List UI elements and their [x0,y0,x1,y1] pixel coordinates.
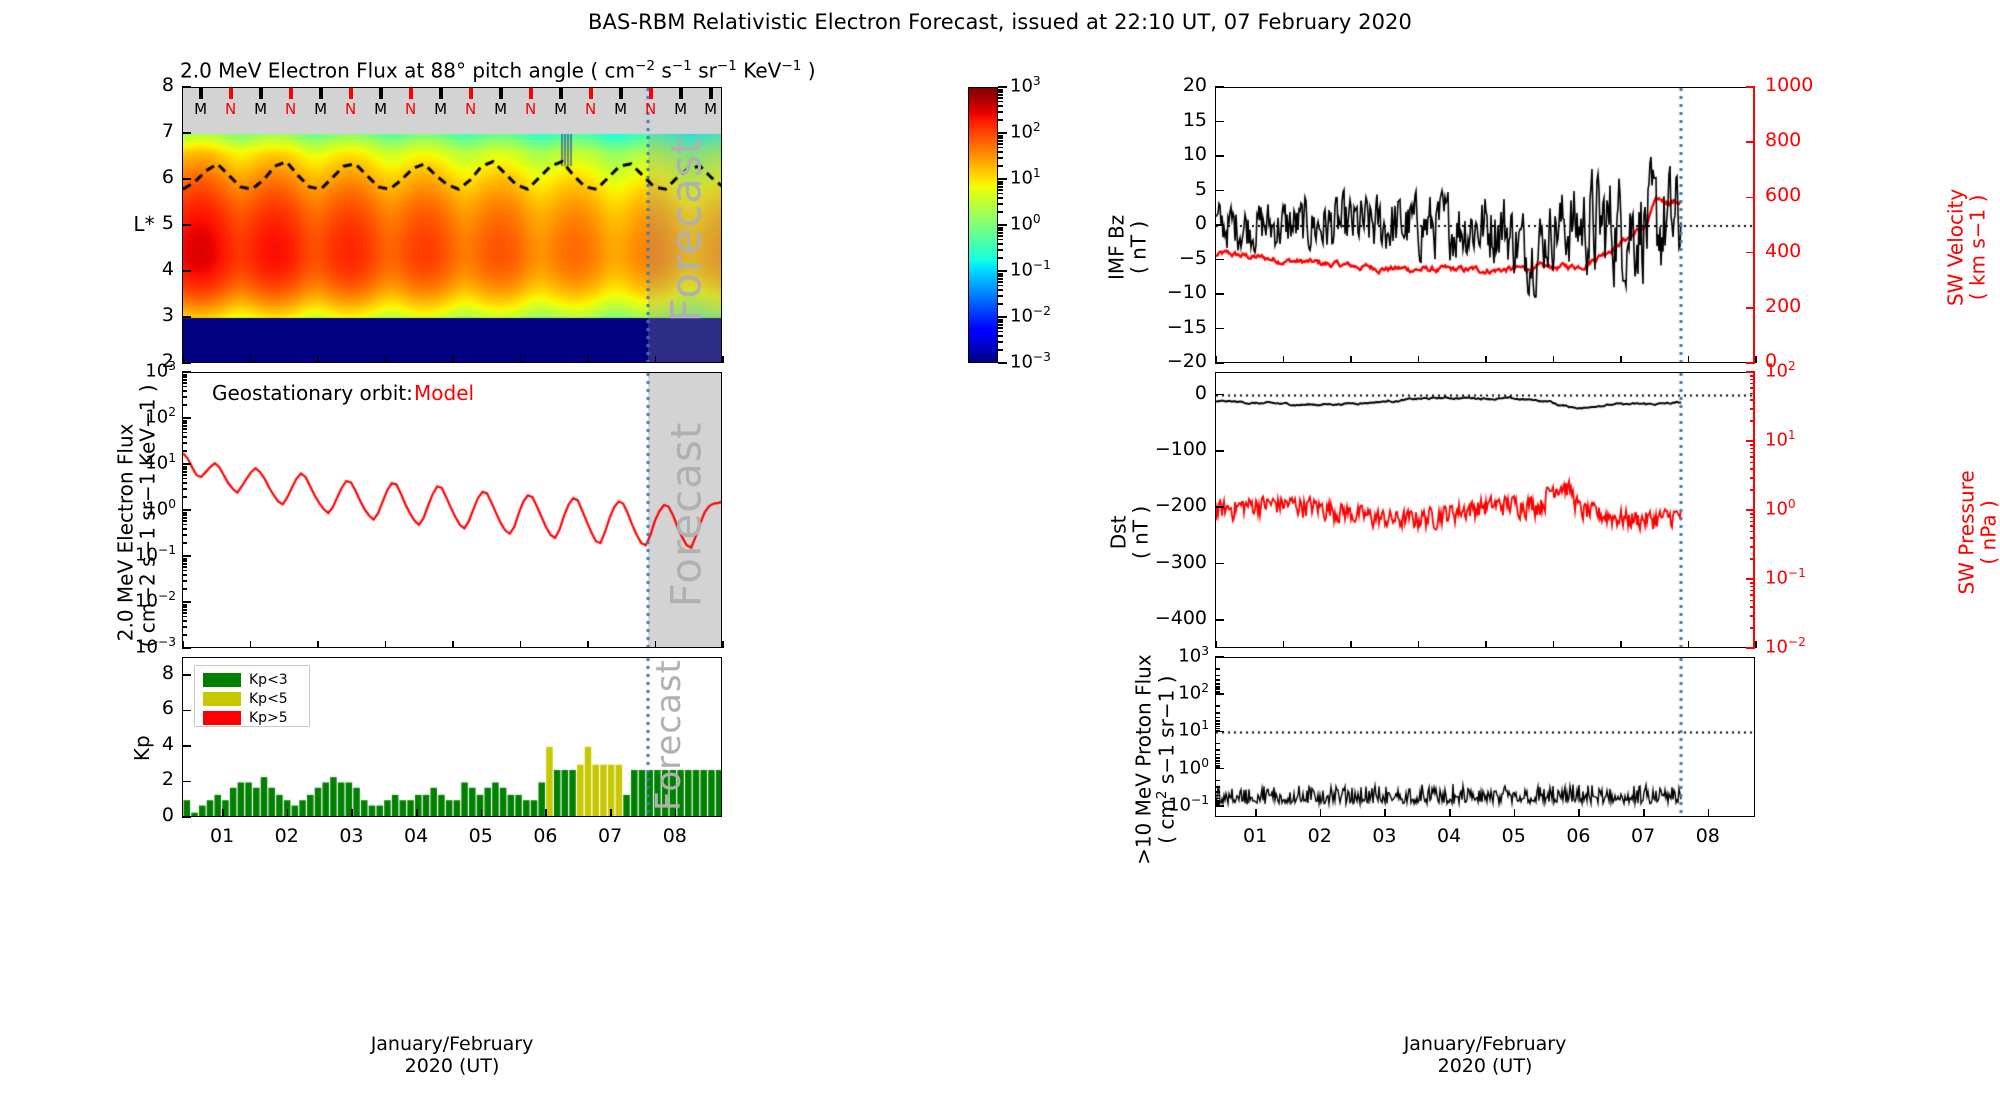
imf-xtick [1350,356,1352,363]
imf-xtick [1283,356,1285,363]
colorbar-gradient [969,88,998,363]
proton-xtick-label: 01 [1233,825,1277,847]
imf-right-ytick-label: 200 [1765,295,1825,317]
event-tick [619,88,623,99]
geo-minor-ytick [182,520,187,522]
geo-minor-ytick [182,542,187,544]
colorbar-minor-tick [998,321,1003,323]
geo-minor-ytick [182,482,187,484]
proton-xtick [1384,809,1386,817]
imf-bz-sw-velocity-axes[interactable] [1215,87,1755,363]
right-xaxis-line2: 2020 (UT) [1438,1055,1533,1077]
forecast-watermark-flux: Forecast [661,137,710,323]
flux-map-ytick [182,224,191,226]
colorbar-minor-tick [998,111,1003,113]
event-tick [439,88,443,99]
geo-ytick [182,555,191,557]
geo-minor-ytick [182,620,187,622]
proton-xtick [1578,809,1580,817]
dst-xtick [1688,641,1690,648]
event-label-n: N [344,100,358,118]
colorbar-minor-tick [998,319,1003,321]
colorbar-minor-tick [998,331,1003,333]
exp-cm: −2 [635,58,655,74]
colorbar-minor-tick [998,89,1003,91]
dst-right-ytick-label: 100 [1765,497,1796,520]
kp-legend-swatch-0 [203,673,241,687]
proton-xtick [1643,809,1645,817]
geo-minor-ytick [182,616,187,618]
geo-ytick [182,371,191,373]
colorbar-minor-tick [998,91,1003,93]
imf-left-ytick-label: 0 [1153,212,1207,234]
flux-map-ylabel: L* [124,213,164,235]
colorbar-minor-tick [998,349,1003,351]
dst-xtick [1350,641,1352,648]
geo-minor-ytick [182,563,187,565]
geo-minor-ytick [182,524,187,526]
event-tick [469,88,473,99]
dst-ylabel-left-line1: Dst [1107,516,1131,550]
kp-xtick [351,809,353,817]
flux-map-xtick [250,356,252,363]
imf-xtick [1620,356,1622,363]
proton-minor-ytick [1215,720,1220,722]
exp-kev: −1 [781,58,801,74]
imf-ylabel-right: SW Velocity ( km s−1 ) [1945,142,1990,352]
geo-xtick [452,641,454,648]
forecast-watermark-geo: Forecast [661,422,710,608]
geo-ytick-label: 103 [120,359,176,382]
degree-symbol: ° [456,58,466,82]
unit-kev: KeV [737,58,781,82]
geo-xtick [250,641,252,648]
colorbar-minor-tick [998,143,1003,145]
event-tick [379,88,383,99]
geo-minor-ytick [182,404,187,406]
colorbar-minor-tick [998,327,1003,329]
event-tick [559,88,563,99]
colorbar-minor-tick [998,278,1003,280]
geo-minor-ytick [182,382,187,384]
kp-ylabel: Kp [131,718,153,778]
colorbar-tick [998,270,1007,272]
colorbar-minor-tick [998,94,1003,96]
figure-title: BAS-RBM Relativistic Electron Forecast, … [0,10,2000,34]
unit-sr: sr [692,58,717,82]
kp-ytick [182,816,191,818]
geo-minor-ytick [182,450,187,452]
geo-minor-ytick [182,420,187,422]
colorbar-minor-tick [998,165,1003,167]
exp-sr: −1 [717,58,737,74]
colorbar-minor-tick [998,243,1003,245]
dst-xtick [1418,641,1420,648]
flux-map-title-mid: pitch angle ( cm [466,58,635,82]
geo-minor-ytick [182,379,187,381]
proton-xtick [1708,809,1710,817]
geo-minor-ytick [182,436,187,438]
dst-ylabel-right: SW Pressure ( nPa ) [1956,422,2000,642]
imf-left-ytick [1215,86,1224,88]
geo-minor-ytick [182,468,187,470]
event-tick [529,88,533,99]
forecast-watermark-kp: Forecast [649,659,689,811]
geo-minor-ytick [182,604,187,606]
flux-map-xtick [587,356,589,363]
event-label-m: M [674,100,688,118]
proton-minor-ytick [1215,767,1220,769]
imf-left-ytick [1215,328,1224,330]
dst-right-ytick-label: 102 [1765,359,1796,382]
flux-map-title: 2.0 MeV Electron Flux at 88° pitch angle… [180,58,816,82]
geostationary-flux-canvas [183,373,722,648]
geo-minor-ytick [182,474,187,476]
imf-right-ytick-label: 400 [1765,240,1825,262]
proton-xtick-label: 03 [1362,825,1406,847]
dst-sw-pressure-axes[interactable] [1215,372,1755,648]
imf-xtick [1418,356,1420,363]
right-xaxis-label: January/February 2020 (UT) [1215,1033,1755,1077]
geo-legend-series: Model [414,381,474,405]
kp-ytick-label: 6 [138,697,174,719]
colorbar-minor-tick [998,137,1003,139]
geo-ytick [182,463,191,465]
flux-heatmap-canvas [183,88,722,363]
proton-minor-ytick [1215,791,1220,793]
kp-legend-label-1: Kp<5 [249,691,288,707]
colorbar-minor-tick [998,181,1003,183]
colorbar-minor-tick [998,341,1003,343]
proton-minor-ytick [1215,717,1220,719]
kp-xtick-label: 02 [265,825,309,847]
geo-minor-ytick [182,425,187,427]
kp-legend-label-2: Kp>5 [249,710,288,726]
colorbar-minor-tick [998,289,1003,291]
flux-map-xtick [452,356,454,363]
flux-map-ytick-label: 3 [136,304,174,326]
geo-minor-ytick [182,466,187,468]
geo-minor-ytick [182,442,187,444]
proton-ylabel: >10 MeV Proton Flux ( cm2 s−1 sr−1 ) [1132,645,1177,875]
geo-minor-ytick [182,517,187,519]
colorbar-tick-label: 10−1 [1010,258,1051,281]
colorbar-minor-tick [998,235,1003,237]
colorbar-tick-label: 100 [1010,212,1041,235]
proton-minor-ytick [1215,730,1220,732]
colorbar-minor-tick [998,324,1003,326]
proton-minor-ytick [1215,754,1220,756]
kp-ytick-label: 8 [138,662,174,684]
imf-left-ytick-label: −20 [1153,350,1207,372]
geo-minor-ytick [182,606,187,608]
event-label-n: N [464,100,478,118]
colorbar-minor-tick [998,151,1003,153]
geo-xtick [587,641,589,648]
proton-minor-ytick [1215,749,1220,751]
proton-xtick [1449,809,1451,817]
imf-left-ytick-label: −15 [1153,316,1207,338]
colorbar-tick [998,178,1007,180]
colorbar-minor-tick [998,229,1003,231]
colorbar-minor-tick [998,97,1003,99]
colorbar-minor-tick [998,275,1003,277]
dst-xtick [1485,641,1487,648]
flux-map-xtick [182,356,184,363]
imf-left-ytick [1215,259,1224,261]
proton-minor-ytick [1215,757,1220,759]
colorbar-minor-tick [998,101,1003,103]
kp-xtick [222,809,224,817]
geo-minor-ytick [182,558,187,560]
geo-minor-ytick [182,534,187,536]
flux-map-ytick-label: 7 [136,120,174,142]
geo-minor-ytick [182,514,187,516]
colorbar-minor-tick [998,203,1003,205]
dst-right-ytick-label: 10−2 [1765,635,1806,658]
kp-ylabel-text: Kp [130,735,154,761]
kp-legend-swatch-2 [203,711,241,725]
geostationary-flux-axes[interactable] [182,372,722,648]
event-tick [289,88,293,99]
flux-map-ytick [182,270,191,272]
proton-xtick-label: 02 [1298,825,1342,847]
colorbar-tick-label: 101 [1010,166,1041,189]
kp-xtick [610,809,612,817]
imf-left-ytick-label: 20 [1153,74,1207,96]
proton-minor-ytick [1215,804,1220,806]
event-label-m: M [554,100,568,118]
colorbar-minor-tick [998,147,1003,149]
colorbar-minor-tick [998,189,1003,191]
flux-map-xtick [655,356,657,363]
proton-minor-ytick [1215,668,1220,670]
dst-left-ytick-label: −400 [1123,607,1207,629]
dst-right-ytick-label: 101 [1765,428,1796,451]
colorbar-minor-tick [998,197,1003,199]
kp-xtick [416,809,418,817]
dst-xtick [1283,641,1285,648]
colorbar-minor-tick [998,211,1003,213]
dst-left-ytick-label: −100 [1123,438,1207,460]
proton-minor-ytick [1215,795,1220,797]
left-xaxis-label: January/February 2020 (UT) [182,1033,722,1077]
kp-ytick [182,674,191,676]
colorbar-minor-tick [998,281,1003,283]
geo-ylabel-line1: 2.0 MeV Electron Flux [114,424,138,642]
event-tick [319,88,323,99]
flux-map-ytick [182,86,191,88]
proton-minor-ytick [1215,679,1220,681]
proton-xtick [1514,809,1516,817]
geo-minor-ytick [182,386,187,388]
proton-minor-ytick [1215,705,1220,707]
colorbar-minor-tick [998,273,1003,275]
event-label-n: N [644,100,658,118]
proton-minor-ytick [1215,686,1220,688]
flux-map-title-pre: 2.0 MeV Electron Flux at 88 [180,58,456,82]
proton-ylabel-line2: ( cm2 s−1 sr−1 ) [1154,676,1178,844]
dst-left-ytick [1215,506,1224,508]
colorbar-minor-tick [998,186,1003,188]
dst-left-ytick-label: 0 [1123,382,1207,404]
colorbar-tick-label: 10−3 [1010,350,1051,373]
colorbar-tick-label: 102 [1010,120,1041,143]
dst-canvas [1216,373,1755,648]
proton-flux-axes[interactable] [1215,657,1755,817]
geo-minor-ytick [182,609,187,611]
geo-minor-ytick [182,478,187,480]
kp-xtick [287,809,289,817]
dst-ylabel-left-line2: ( nT ) [1129,506,1153,559]
geo-minor-ytick [182,574,187,576]
geo-minor-ytick [182,488,187,490]
proton-ytick [1215,656,1224,658]
imf-right-ytick-label: 600 [1765,184,1825,206]
imf-xtick [1485,356,1487,363]
colorbar-tick [998,132,1007,134]
imf-left-ytick-label: −10 [1153,281,1207,303]
imf-ylabel-right-line2: ( km s−1 ) [1966,195,1990,301]
colorbar-minor-tick [998,227,1003,229]
imf-left-ytick [1215,293,1224,295]
colorbar-axes [968,87,998,363]
colorbar-minor-tick [998,335,1003,337]
colorbar-tick-label: 103 [1010,74,1041,97]
colorbar-minor-tick [998,303,1003,305]
geo-ytick [182,509,191,511]
kp-xtick-label: 08 [653,825,697,847]
event-tick [589,88,593,99]
proton-minor-ytick [1215,743,1220,745]
proton-ylabel-line1: >10 MeV Proton Flux [1131,654,1155,865]
geo-minor-ytick [182,528,187,530]
event-tick [199,88,203,99]
geo-minor-ytick [182,374,187,376]
kp-xtick [481,809,483,817]
colorbar-tick [998,316,1007,318]
kp-xtick-label: 06 [523,825,567,847]
imf-left-ytick-label: 15 [1153,109,1207,131]
imf-xtick [1215,356,1217,363]
event-label-m: M [704,100,718,118]
proton-minor-ytick [1215,780,1220,782]
colorbar-minor-tick [998,295,1003,297]
flux-lstar-heatmap-axes[interactable] [182,87,722,363]
left-xaxis-line2: 2020 (UT) [405,1055,500,1077]
colorbar-tick [998,362,1007,364]
geo-minor-ytick [182,626,187,628]
imf-ylabel-left-line2: ( nT ) [1127,221,1151,274]
imf-left-ytick [1215,190,1224,192]
dst-left-ytick [1215,450,1224,452]
colorbar-tick [998,224,1007,226]
imf-left-ytick [1215,121,1224,123]
dst-ylabel-right-line1: SW Pressure [1955,470,1979,594]
geo-minor-ytick [182,588,187,590]
geo-xtick [317,641,319,648]
right-xaxis-line1: January/February [1404,1033,1567,1055]
geo-minor-ytick [182,422,187,424]
imf-left-ytick-label: 5 [1153,178,1207,200]
imf-ylabel-right-line1: SW Velocity [1944,189,1968,306]
colorbar-minor-tick [998,285,1003,287]
imf-left-ytick [1215,224,1224,226]
dst-xtick [1620,641,1622,648]
dst-xtick [1553,641,1555,648]
imf-bz-canvas [1216,88,1755,363]
proton-xtick [1255,809,1257,817]
proton-minor-ytick [1215,712,1220,714]
imf-xtick [1688,356,1690,363]
proton-minor-ytick [1215,683,1220,685]
proton-xtick-label: 08 [1686,825,1730,847]
colorbar-minor-tick [998,257,1003,259]
flux-map-xtick [520,356,522,363]
flux-map-ytick [182,316,191,318]
left-xaxis-line1: January/February [371,1033,534,1055]
geo-minor-ytick [182,580,187,582]
dst-right-spine [1753,372,1755,648]
geo-legend-label: Geostationary orbit: [212,381,413,405]
kp-xtick-label: 03 [329,825,373,847]
event-label-m: M [314,100,328,118]
proton-minor-ytick [1215,798,1220,800]
dst-right-ytick-label: 10−1 [1765,566,1806,589]
imf-left-ytick-label: −5 [1153,247,1207,269]
proton-xtick-label: 05 [1492,825,1536,847]
geo-minor-ytick [182,496,187,498]
colorbar-minor-tick [998,157,1003,159]
geo-minor-ytick [182,560,187,562]
kp-ytick [182,710,191,712]
proton-minor-ytick [1215,723,1220,725]
imf-left-ytick-label: 10 [1153,143,1207,165]
colorbar-tick [998,86,1007,88]
proton-minor-ytick [1215,675,1220,677]
kp-legend-swatch-1 [203,692,241,706]
proton-xtick-label: 06 [1556,825,1600,847]
event-tick [499,88,503,99]
event-label-n: N [224,100,238,118]
event-label-n: N [284,100,298,118]
event-tick [649,88,653,99]
geo-minor-ytick [182,612,187,614]
event-label-n: N [404,100,418,118]
proton-xtick-label: 04 [1427,825,1471,847]
colorbar-minor-tick [998,193,1003,195]
dst-left-ytick [1215,394,1224,396]
geo-minor-ytick [182,396,187,398]
kp-xtick-label: 05 [459,825,503,847]
colorbar-minor-tick [998,135,1003,137]
kp-xtick [545,809,547,817]
event-label-m: M [494,100,508,118]
dst-ylabel-right-line2: ( nPa ) [1977,500,2000,564]
flux-map-xtick [317,356,319,363]
geo-xtick [520,641,522,648]
flux-map-ytick-label: 8 [136,74,174,96]
event-tick [229,88,233,99]
dst-xtick [1215,641,1217,648]
proton-flux-canvas [1216,658,1755,817]
geo-xtick [182,641,184,648]
kp-legend: Kp<3 Kp<5 Kp>5 [194,665,310,727]
flux-map-ylabel-text: L* [133,212,154,236]
flux-map-title-post: ) [801,58,815,82]
geo-minor-ytick [182,566,187,568]
dst-ylabel-left: Dst ( nT ) [1108,462,1153,602]
